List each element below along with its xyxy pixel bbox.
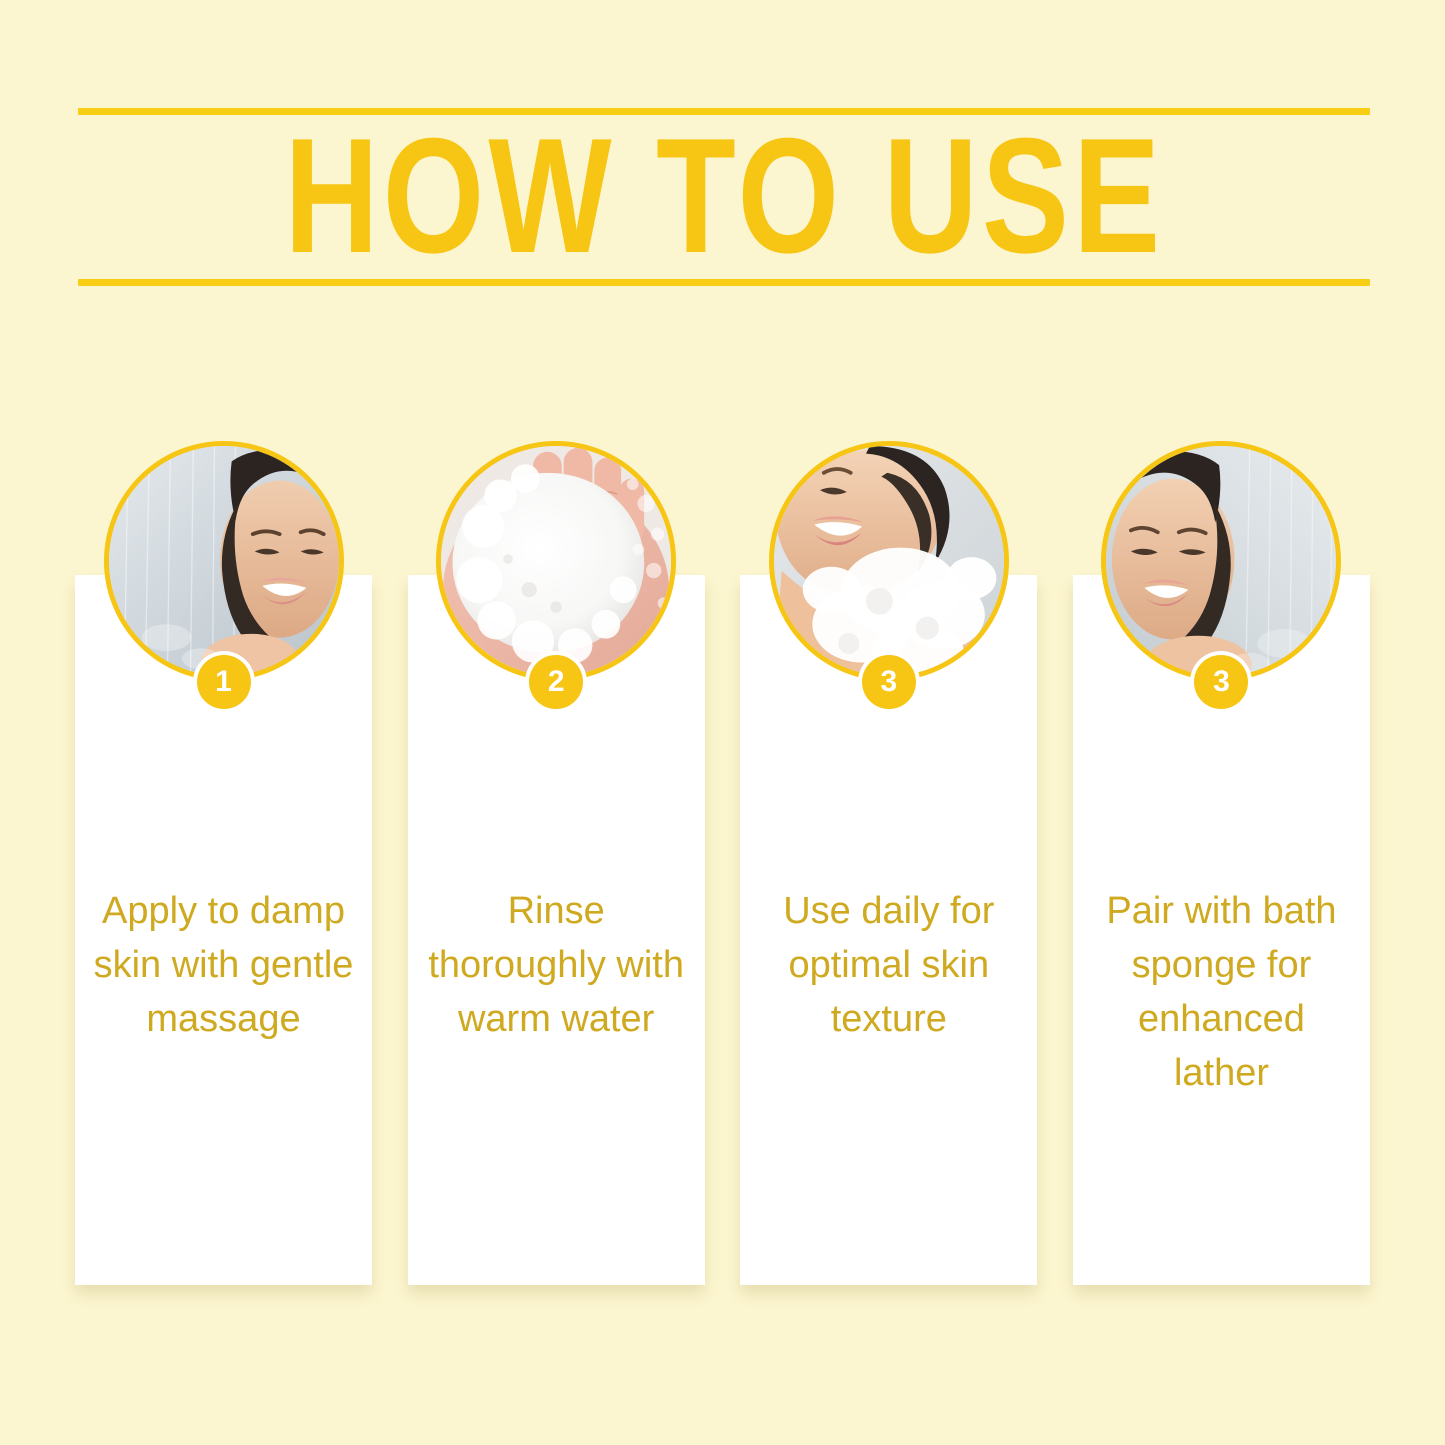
step-caption-2: Rinse thoroughly with warm water — [422, 885, 691, 1047]
step-card-2[interactable]: 2 Rinse thoroughly with warm water — [408, 575, 705, 1285]
title-rule-bottom — [78, 279, 1370, 286]
step-caption-3: Use daily for optimal skin texture — [754, 885, 1023, 1047]
wet-hair-smile-photo — [1101, 441, 1341, 681]
foam-in-hand-photo — [436, 441, 676, 681]
step-badge-3: 3 — [862, 655, 916, 709]
header: HOW TO USE — [78, 108, 1370, 286]
page-title-text: HOW TO USE — [284, 115, 1164, 279]
steps-grid: 1 Apply to damp skin with gentle massage — [75, 575, 1370, 1285]
step-card-1[interactable]: 1 Apply to damp skin with gentle massage — [75, 575, 372, 1285]
step-badge-1: 1 — [197, 655, 251, 709]
step-card-3[interactable]: 3 Use daily for optimal skin texture — [740, 575, 1037, 1285]
step-card-4[interactable]: 3 Pair with bath sponge for enhanced lat… — [1073, 575, 1370, 1285]
page-title: HOW TO USE — [78, 133, 1370, 261]
step-caption-4: Pair with bath sponge for enhanced lathe… — [1087, 885, 1356, 1101]
lather-on-shoulder-photo — [769, 441, 1009, 681]
step-badge-4: 3 — [1194, 655, 1248, 709]
shower-woman-photo — [104, 441, 344, 681]
step-caption-1: Apply to damp skin with gentle massage — [89, 885, 358, 1047]
step-badge-2: 2 — [529, 655, 583, 709]
